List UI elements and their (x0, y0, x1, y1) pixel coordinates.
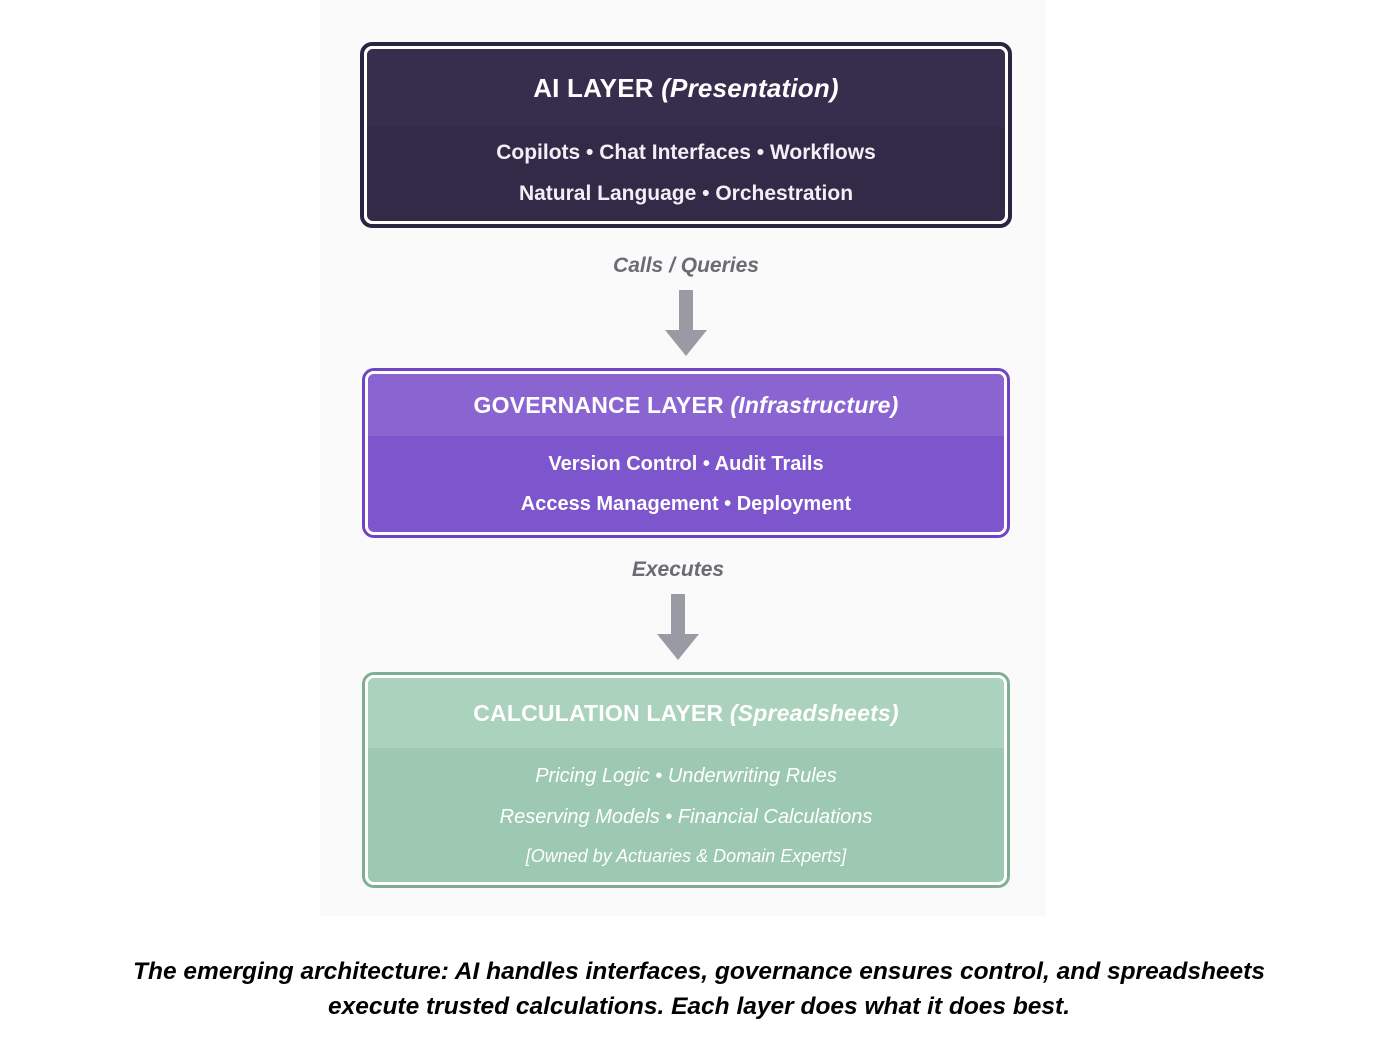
layer-title-text-calculation: CALCULATION LAYER (473, 700, 723, 726)
down-arrow-icon (655, 594, 701, 662)
layer-line: Access Management • Deployment (521, 484, 851, 524)
layer-title-text-governance: GOVERNANCE LAYER (474, 392, 724, 418)
connector-executes: Executes (548, 558, 808, 662)
layer-line: Natural Language • Orchestration (519, 174, 853, 215)
layer-title-text-ai: AI LAYER (533, 73, 654, 103)
layer-line: Copilots • Chat Interfaces • Workflows (496, 133, 876, 174)
layer-header-governance: GOVERNANCE LAYER (Infrastructure) (368, 374, 1004, 436)
layer-line: Version Control • Audit Trails (548, 444, 823, 484)
layer-subtitle-governance: (Infrastructure) (730, 392, 898, 418)
layer-box-ai: AI LAYER (Presentation) Copilots • Chat … (360, 42, 1012, 228)
layer-box-calculation: CALCULATION LAYER (Spreadsheets) Pricing… (362, 672, 1010, 888)
layer-line: Pricing Logic • Underwriting Rules (535, 756, 837, 797)
layer-inner-governance: GOVERNANCE LAYER (Infrastructure) Versio… (365, 371, 1007, 535)
layer-title-governance: GOVERNANCE LAYER (Infrastructure) (474, 392, 899, 419)
layer-title-calculation: CALCULATION LAYER (Spreadsheets) (473, 700, 899, 727)
diagram-caption: The emerging architecture: AI handles in… (99, 955, 1299, 1025)
layer-inner-ai: AI LAYER (Presentation) Copilots • Chat … (364, 46, 1008, 224)
connector-label-executes: Executes (632, 558, 724, 582)
layer-title-ai: AI LAYER (Presentation) (533, 73, 839, 104)
layer-body-ai: Copilots • Chat Interfaces • Workflows N… (367, 127, 1005, 221)
layer-line: Reserving Models • Financial Calculation… (500, 797, 873, 838)
layer-line-owner: [Owned by Actuaries & Domain Experts] (526, 838, 846, 875)
layer-body-calculation: Pricing Logic • Underwriting Rules Reser… (368, 748, 1004, 882)
layer-body-governance: Version Control • Audit Trails Access Ma… (368, 436, 1004, 532)
layer-subtitle-calculation: (Spreadsheets) (730, 700, 899, 726)
connector-calls-queries: Calls / Queries (556, 254, 816, 358)
layer-inner-calculation: CALCULATION LAYER (Spreadsheets) Pricing… (365, 675, 1007, 885)
layer-header-calculation: CALCULATION LAYER (Spreadsheets) (368, 678, 1004, 748)
diagram-stage: AI LAYER (Presentation) Copilots • Chat … (0, 0, 1398, 1044)
layer-subtitle-ai: (Presentation) (661, 73, 839, 103)
down-arrow-icon (663, 290, 709, 358)
layer-box-governance: GOVERNANCE LAYER (Infrastructure) Versio… (362, 368, 1010, 538)
layer-header-ai: AI LAYER (Presentation) (367, 49, 1005, 127)
connector-label-calls-queries: Calls / Queries (613, 254, 759, 278)
